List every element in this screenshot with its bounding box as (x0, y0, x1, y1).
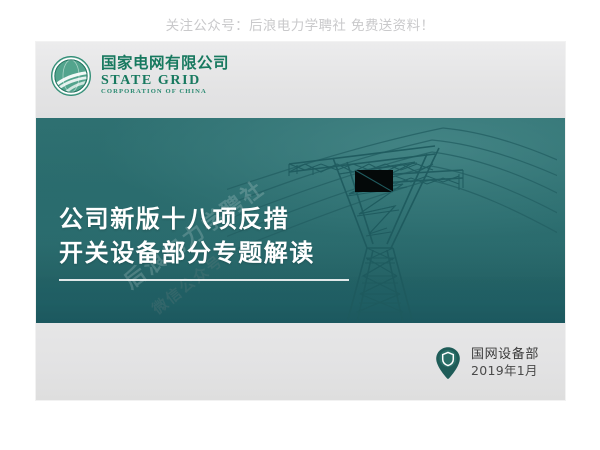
slide-attribution: 国网设备部 2019年1月 (435, 346, 539, 380)
logo-company-sub: CORPORATION OF CHINA (101, 89, 229, 96)
state-grid-globe-icon (50, 55, 92, 97)
attribution-date: 2019年1月 (471, 363, 539, 380)
presentation-slide: 国家电网有限公司 STATE GRID CORPORATION OF CHINA (36, 42, 565, 400)
slide-title-group: 公司新版十八项反措 开关设备部分专题解读 (59, 202, 349, 281)
slide-hero-band: 后浪电力学聘社 公司新版十八项反措 开关设备部分专题解读 (36, 118, 565, 323)
logo-company-cn: 国家电网有限公司 (101, 56, 229, 72)
shield-location-pin-icon (435, 346, 461, 380)
state-grid-logo: 国家电网有限公司 STATE GRID CORPORATION OF CHINA (50, 55, 229, 97)
screenshot-root: 关注公众号：后浪电力学聘社 免费送资料！ (0, 0, 600, 450)
title-underline-rule (59, 279, 349, 281)
logo-company-en: STATE GRID (101, 74, 229, 88)
attribution-department: 国网设备部 (471, 346, 539, 363)
state-grid-wordmark: 国家电网有限公司 STATE GRID CORPORATION OF CHINA (101, 56, 229, 95)
slide-title-line2: 开关设备部分专题解读 (59, 236, 349, 270)
attribution-text-block: 国网设备部 2019年1月 (471, 346, 539, 380)
slide-title-line1: 公司新版十八项反措 (59, 202, 349, 236)
promo-banner-text: 关注公众号：后浪电力学聘社 免费送资料！ (0, 12, 600, 36)
